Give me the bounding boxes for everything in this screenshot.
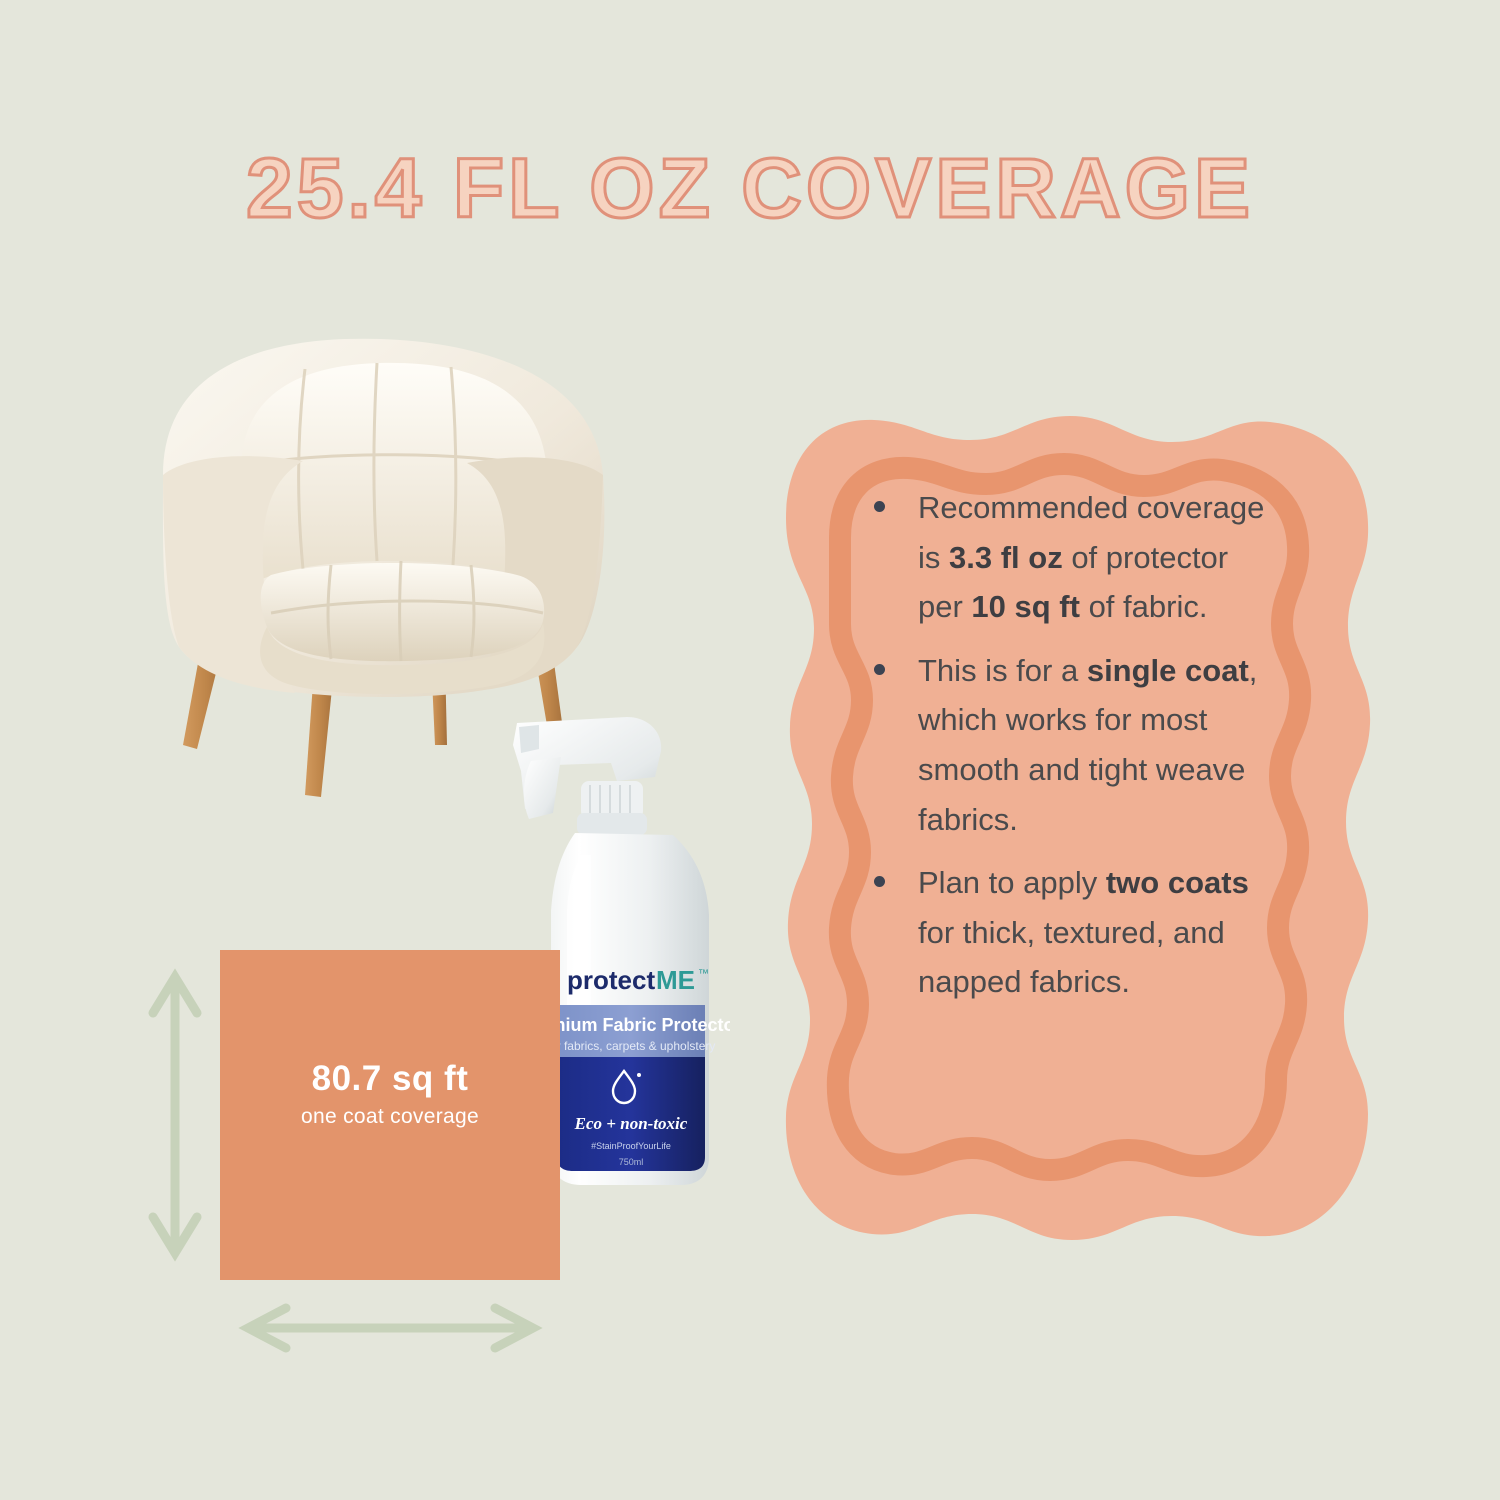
instruction-item: Recommended coverage is 3.3 fl oz of pro…: [866, 483, 1266, 632]
label-subhead: for fabrics, carpets & upholstery: [547, 1039, 716, 1053]
page-title: 25.4 FL OZ COVERAGE: [246, 146, 1254, 230]
bottle-trigger-head: [513, 717, 661, 835]
chair-seat-cushion: [261, 563, 544, 661]
eco-claim: Eco + non-toxic: [574, 1114, 688, 1133]
bullet-dot-icon: [874, 876, 885, 887]
brand-trademark: ™: [698, 968, 709, 980]
instruction-emphasis: two coats: [1106, 865, 1249, 900]
page-title-container: 25.4 FL OZ COVERAGE: [0, 146, 1500, 230]
instruction-item: Plan to apply two coats for thick, textu…: [866, 858, 1266, 1007]
bullet-dot-icon: [874, 501, 885, 512]
brand-protect: protect: [567, 965, 655, 995]
instruction-item: This is for a single coat, which works f…: [866, 646, 1266, 844]
instructions-list: Recommended coverage is 3.3 fl oz of pro…: [866, 483, 1266, 1007]
brand-me: ME: [656, 965, 695, 995]
bullet-dot-icon: [874, 664, 885, 675]
instruction-text: Plan to apply: [918, 865, 1106, 900]
instruction-emphasis: single coat: [1087, 653, 1249, 688]
infographic-canvas: 25.4 FL OZ COVERAGE: [0, 0, 1500, 1500]
instruction-text: This is for a: [918, 653, 1087, 688]
coverage-area-square: [220, 950, 560, 1280]
hashtag: #StainProofYourLife: [591, 1141, 671, 1151]
instruction-emphasis: 3.3 fl oz: [949, 540, 1063, 575]
instruction-emphasis: 10 sq ft: [971, 589, 1080, 624]
info-panel-content: Recommended coverage is 3.3 fl oz of pro…: [866, 483, 1266, 1183]
vertical-dimension-arrow-icon: [140, 955, 210, 1275]
horizontal-dimension-arrow-icon: [228, 1300, 553, 1375]
instruction-text: of fabric.: [1080, 589, 1208, 624]
volume: 750ml: [619, 1157, 644, 1167]
instruction-text: for thick, textured, and napped fabrics.: [918, 915, 1225, 1000]
info-panel: Recommended coverage is 3.3 fl oz of pro…: [748, 388, 1408, 1268]
